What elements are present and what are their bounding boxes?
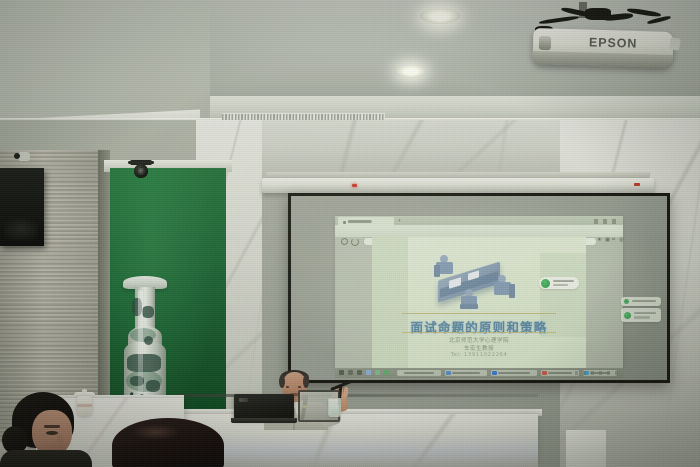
widget-avatar-icon	[624, 312, 631, 319]
lecture-hall-photo: EPSON +	[0, 0, 700, 467]
side-cabinet	[566, 430, 606, 467]
presenter-laptop[interactable]	[234, 394, 294, 424]
projector-focus-knob[interactable]	[599, 64, 608, 69]
wall-speaker	[0, 168, 44, 246]
title-rule-top	[402, 313, 556, 314]
desktop-taskbar[interactable]	[335, 368, 623, 378]
ceiling-spotlight-fixture	[18, 152, 30, 161]
back-icon[interactable]	[341, 238, 348, 245]
extension-icon[interactable]: ▣	[605, 238, 610, 243]
audience-member-front-left	[0, 392, 96, 467]
screen-indicator-led	[634, 183, 640, 186]
title-rule-bottom	[402, 332, 556, 333]
favicon-icon	[343, 221, 346, 224]
presentation-slide: 面试命题的原则和策略 北京师范大学心理学院 车宏生教授 Tel: 1391102…	[372, 237, 586, 368]
taskbar-window-button[interactable]	[397, 370, 441, 377]
slide-status-badge	[539, 277, 579, 289]
slide-title: 面试命题的原则和策略	[372, 317, 586, 336]
profile-icon[interactable]: ◍	[619, 238, 624, 243]
task-view-icon[interactable]	[357, 370, 362, 375]
projection-screen-housing	[262, 178, 654, 193]
reload-icon[interactable]	[351, 238, 359, 246]
system-tray[interactable]	[575, 371, 619, 376]
slide-subtitle-presenter: 车宏生教授	[372, 344, 586, 352]
taskbar-window-button[interactable]	[491, 370, 537, 377]
floating-widget-chat[interactable]	[621, 308, 661, 322]
app-icon[interactable]	[375, 370, 380, 375]
ceiling-downlight-icon	[420, 8, 460, 24]
cast-icon[interactable]: ⌗	[612, 238, 617, 243]
audience-torso	[0, 450, 92, 467]
taskbar-window-button[interactable]	[445, 370, 487, 377]
new-tab-button[interactable]: +	[398, 219, 403, 224]
water-glass	[328, 398, 341, 417]
status-dot-icon	[541, 279, 550, 288]
laptop-base	[231, 418, 297, 423]
star-icon[interactable]: ★	[597, 238, 602, 243]
security-camera	[128, 160, 154, 182]
browser-tab-title	[348, 220, 386, 223]
laptop-logo-icon	[239, 398, 248, 402]
interview-table-isometric-illustration	[430, 253, 538, 311]
epson-projector: EPSON	[527, 2, 679, 82]
browser-tab[interactable]	[338, 217, 394, 225]
screen-indicator-led	[352, 184, 357, 187]
projection-screen: + ★ ▣ ⌗ ◍	[291, 196, 667, 380]
app-icon[interactable]	[384, 370, 389, 375]
projector-lens-icon	[539, 36, 551, 50]
projector-brand-label: EPSON	[589, 35, 638, 50]
slide-subtitle-institution: 北京师范大学心理学院	[372, 336, 586, 344]
taskbar-window-button[interactable]	[541, 370, 579, 377]
ceiling-downlight-icon	[395, 65, 427, 78]
floating-widget-notification[interactable]	[621, 297, 661, 306]
window-controls[interactable]	[594, 219, 620, 224]
camera-lens-icon	[134, 164, 148, 178]
laptop-lid	[234, 394, 294, 419]
search-icon[interactable]	[348, 370, 353, 375]
podium-rail	[176, 394, 538, 397]
file-explorer-icon[interactable]	[366, 370, 371, 375]
audience-member-front-center	[112, 418, 230, 467]
browser-tab-bar: +	[335, 216, 623, 225]
browser-nav-bar: ★ ▣ ⌗ ◍	[335, 225, 623, 237]
widget-status-icon	[624, 299, 629, 304]
browser-window[interactable]: + ★ ▣ ⌗ ◍	[335, 216, 623, 368]
projector-bracket-foot	[669, 37, 681, 50]
slide-subtitle-contact: Tel: 13911022264	[372, 352, 586, 358]
